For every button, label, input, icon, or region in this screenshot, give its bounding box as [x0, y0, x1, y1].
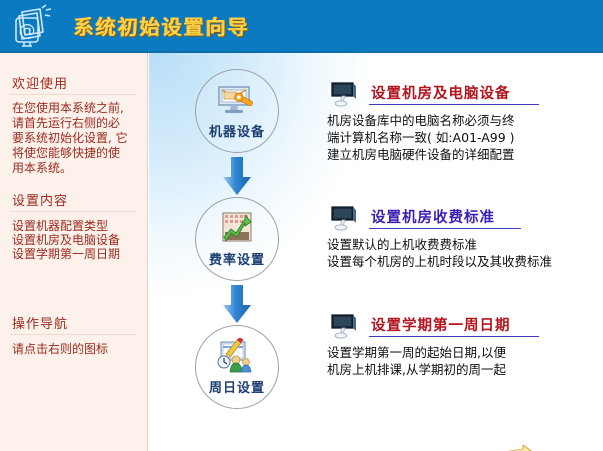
step-label: 费率设置	[196, 249, 278, 268]
down-arrow-blue-1	[220, 157, 254, 197]
section-description: 设置学期第一周的起始日期,以便 机房上机排课,从学期初的周一起	[327, 344, 601, 378]
green-growth-chart-icon	[215, 210, 259, 248]
right-arrow-gold-icon[interactable]	[473, 445, 551, 451]
svg-text:@: @	[19, 21, 36, 41]
desc-line: 端计算机名称一致( 如:A01-A99 )	[327, 129, 601, 146]
step-circle-rate-settings[interactable]: 费率设置	[195, 197, 279, 281]
section-charging-standard: 设置机房收费标准 设置默认的上机收费费标准 设置每个机房的上机时段以及其收费标准	[325, 203, 603, 237]
step-label: 周日设置	[196, 377, 278, 396]
section-first-week-date: 设置学期第一周日期 设置学期第一周的起始日期,以便 机房上机排课,从学期初的周一…	[325, 311, 603, 345]
sidebar-nav-heading: 操作导航	[12, 313, 68, 332]
window-title: 系统初始设置向导	[74, 11, 250, 40]
welcome-line: 要系统初始化设置, 它	[12, 131, 138, 146]
step-label: 机器设备	[196, 121, 278, 140]
section-header: 设置机房收费标准	[325, 203, 603, 237]
down-arrow-blue-2	[220, 285, 254, 325]
section-header: 设置机房及电脑设备	[325, 79, 603, 113]
sidebar-nav-body: 请点击右则的图标	[12, 342, 144, 356]
at-sign-card-icon: @	[12, 4, 64, 50]
sidebar-divider-2	[10, 211, 136, 212]
sidebar-divider-1	[10, 94, 136, 95]
setup-wizard-window: @ 系统初始设置向导 欢迎使用 在您使用本系统之前, 请首先运行右侧的必 要系统…	[0, 0, 603, 451]
section-link-first-week-date[interactable]: 设置学期第一周日期	[371, 314, 511, 335]
sidebar-content-list: 设置机器配置类型 设置机房及电脑设备 设置学期第一周日期	[12, 219, 144, 261]
welcome-line: 在您使用本系统之前,	[12, 101, 138, 116]
section-description: 机房设备库中的电脑名称必须与终 端计算机名称一致( 如:A01-A99 ) 建立…	[327, 112, 601, 163]
section-link-computer-room-devices[interactable]: 设置机房及电脑设备	[371, 82, 511, 103]
sidebar: 欢迎使用 在您使用本系统之前, 请首先运行右侧的必 要系统初始化设置, 它 将使…	[0, 53, 148, 451]
section-link-underline	[369, 104, 539, 105]
sidebar-divider-3	[10, 334, 136, 335]
section-link-charging-standard[interactable]: 设置机房收费标准	[371, 206, 495, 227]
sidebar-content-heading: 设置内容	[12, 190, 68, 209]
desc-line: 设置学期第一周的起始日期,以便	[327, 344, 601, 361]
window-header: @ 系统初始设置向导	[0, 0, 603, 53]
section-description: 设置默认的上机收费费标准 设置每个机房的上机时段以及其收费标准	[327, 236, 601, 270]
content-item: 设置机房及电脑设备	[12, 233, 144, 247]
main-content: 机器设备	[149, 53, 603, 451]
steps-column: 机器设备	[149, 53, 325, 451]
content-item: 设置机器配置类型	[12, 219, 144, 233]
calendar-pencil-users-icon	[215, 338, 259, 376]
desc-line: 机房上机排课,从学期初的周一起	[327, 361, 601, 378]
sidebar-welcome-heading: 欢迎使用	[12, 73, 68, 92]
step-circle-machine-equipment[interactable]: 机器设备	[195, 69, 279, 153]
welcome-line: 将使您能够快捷的使	[12, 146, 138, 161]
monitor-icon	[329, 313, 359, 341]
monitor-wrench-icon	[215, 82, 259, 120]
monitor-icon	[329, 81, 359, 109]
desc-line: 机房设备库中的电脑名称必须与终	[327, 112, 601, 129]
section-link-underline	[369, 336, 539, 337]
nav-body-line: 请点击右则的图标	[12, 342, 144, 356]
desc-line: 设置每个机房的上机时段以及其收费标准	[327, 253, 601, 270]
section-header: 设置学期第一周日期	[325, 311, 603, 345]
section-computer-room-devices: 设置机房及电脑设备 机房设备库中的电脑名称必须与终 端计算机名称一致( 如:A0…	[325, 79, 603, 113]
desc-line: 设置默认的上机收费费标准	[327, 236, 601, 253]
welcome-line: 用本系统。	[12, 161, 138, 176]
monitor-icon	[329, 205, 359, 233]
step-circle-week-day-settings[interactable]: 周日设置	[195, 325, 279, 409]
section-link-underline	[369, 228, 521, 229]
welcome-line: 请首先运行右侧的必	[12, 116, 138, 131]
content-item: 设置学期第一周日期	[12, 247, 144, 261]
desc-line: 建立机房电脑硬件设备的详细配置	[327, 146, 601, 163]
sections-column: 设置机房及电脑设备 机房设备库中的电脑名称必须与终 端计算机名称一致( 如:A0…	[325, 53, 603, 451]
sidebar-welcome-body: 在您使用本系统之前, 请首先运行右侧的必 要系统初始化设置, 它 将使您能够快捷…	[12, 101, 138, 176]
